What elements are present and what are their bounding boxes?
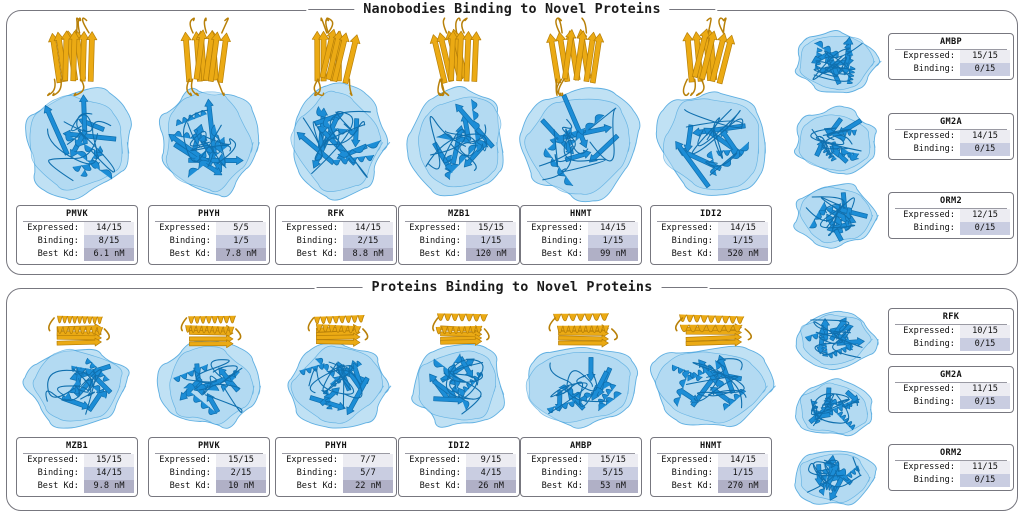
binder-cartoon [547,18,604,95]
table-row-best-kd: Best Kd: 26 nM [402,480,516,493]
binder-cartoon [181,18,231,95]
table-row-expressed: Expressed: 14/15 [20,222,134,235]
row-label-binding: Binding: [402,235,466,248]
row-label-expressed: Expressed: [20,454,84,467]
structure-complex-hnmt [515,18,647,198]
row-label-best-kd: Best Kd: [654,480,718,493]
row-value-expressed: 14/15 [588,222,638,235]
row-label-binding: Binding: [892,222,960,235]
target-protein-cartoon [26,88,132,200]
row-label-expressed: Expressed: [152,454,216,467]
row-label-binding: Binding: [524,467,588,480]
target-protein-cartoon [794,184,879,249]
info-table-mzb1: MZB1 Expressed: 15/15 Binding: 14/15 Bes… [16,437,138,497]
table-row-best-kd: Best Kd: 8.8 nM [279,248,393,261]
table-protein-name: ORM2 [895,195,1007,209]
row-label-binding: Binding: [892,396,960,409]
structure-complex-mzb1 [21,300,133,432]
table-row-best-kd: Best Kd: 520 nM [654,248,768,261]
row-label-expressed: Expressed: [654,454,718,467]
info-table-gm2a: GM2A Expressed: 14/15 Binding: 0/15 [888,113,1014,160]
table-protein-name: GM2A [895,369,1007,383]
row-value-best-kd: 10 nM [216,480,266,493]
row-value-best-kd: 99 nM [588,248,638,261]
table-row-expressed: Expressed: 15/15 [152,454,266,467]
title-rule-right [670,9,716,11]
binder-cartoon [549,313,617,347]
binder-cartoon [49,316,109,346]
row-value-binding: 8/15 [84,235,134,248]
row-value-binding: 0/15 [960,222,1010,235]
structure-complex-rfk [281,18,391,198]
row-value-best-kd: 26 nM [466,480,516,493]
row-value-expressed: 14/15 [718,222,768,235]
row-value-best-kd: 9.8 nM [84,480,134,493]
row-value-binding: 1/5 [216,235,266,248]
table-row-expressed: Expressed: 14/15 [892,130,1010,143]
row-label-expressed: Expressed: [654,222,718,235]
row-label-binding: Binding: [20,467,84,480]
table-row-best-kd: Best Kd: 99 nM [524,248,638,261]
table-row-expressed: Expressed: 15/15 [402,222,516,235]
row-value-binding: 0/15 [960,63,1010,76]
row-value-binding: 0/15 [960,338,1010,351]
table-row-expressed: Expressed: 15/15 [524,454,638,467]
row-value-best-kd: 22 nM [343,480,393,493]
row-label-binding: Binding: [524,235,588,248]
table-row-best-kd: Best Kd: 10 nM [152,480,266,493]
structure-complex-mzb1 [405,18,513,198]
row-label-binding: Binding: [279,467,343,480]
row-label-best-kd: Best Kd: [152,480,216,493]
table-row-binding: Binding: 2/15 [152,467,266,480]
table-row-binding: Binding: 1/15 [654,235,768,248]
row-value-expressed: 7/7 [343,454,393,467]
target-protein-cartoon [291,83,390,200]
row-value-binding: 4/15 [466,467,516,480]
table-protein-name: IDI2 [657,208,765,222]
table-row-binding: Binding: 4/15 [402,467,516,480]
row-label-expressed: Expressed: [279,222,343,235]
table-row-expressed: Expressed: 9/15 [402,454,516,467]
target-protein-cartoon [520,88,640,202]
table-row-binding: Binding: 2/15 [279,235,393,248]
row-label-expressed: Expressed: [892,383,960,396]
row-value-expressed: 9/15 [466,454,516,467]
table-protein-name: RFK [895,311,1007,325]
table-row-binding: Binding: 14/15 [20,467,134,480]
binder-cartoon [433,313,489,345]
table-row-binding: Binding: 0/15 [892,474,1010,487]
target-protein-cartoon [795,379,871,436]
row-label-expressed: Expressed: [892,130,960,143]
table-row-expressed: Expressed: 5/5 [152,222,266,235]
row-value-expressed: 11/15 [960,461,1010,474]
row-value-expressed: 15/15 [84,454,134,467]
row-value-expressed: 14/15 [960,130,1010,143]
row-value-expressed: 15/15 [216,454,266,467]
title-rule-left [317,287,363,289]
info-table-orm2: ORM2 Expressed: 11/15 Binding: 0/15 [888,444,1014,491]
row-label-best-kd: Best Kd: [654,248,718,261]
structure-complex-ambp [518,300,644,432]
row-label-expressed: Expressed: [279,454,343,467]
table-row-expressed: Expressed: 14/15 [524,222,638,235]
table-protein-name: PMVK [155,440,263,454]
row-value-best-kd: 8.8 nM [343,248,393,261]
row-value-binding: 1/15 [588,235,638,248]
table-row-expressed: Expressed: 10/15 [892,325,1010,338]
target-protein-cartoon [412,344,505,427]
table-protein-name: HNMT [527,208,635,222]
row-value-binding: 5/7 [343,467,393,480]
target-protein-cartoon [795,451,877,505]
table-row-best-kd: Best Kd: 22 nM [279,480,393,493]
row-label-binding: Binding: [152,235,216,248]
table-protein-name: PHYH [155,208,263,222]
info-table-hnmt: HNMT Expressed: 14/15 Binding: 1/15 Best… [520,205,642,265]
table-row-expressed: Expressed: 14/15 [279,222,393,235]
info-table-hnmt: HNMT Expressed: 14/15 Binding: 1/15 Best… [650,437,772,497]
row-label-expressed: Expressed: [402,222,466,235]
panel-title-text: Nanobodies Binding to Novel Proteins [363,2,660,17]
target-protein-cartoon [526,347,637,428]
table-row-binding: Binding: 0/15 [892,63,1010,76]
row-label-best-kd: Best Kd: [20,248,84,261]
row-label-best-kd: Best Kd: [279,248,343,261]
binder-cartoon [308,315,367,346]
info-table-phyh: PHYH Expressed: 5/5 Binding: 1/5 Best Kd… [148,205,270,265]
target-protein-cartoon [23,349,129,428]
table-protein-name: ORM2 [895,447,1007,461]
table-row-expressed: Expressed: 11/15 [892,383,1010,396]
row-value-binding: 5/15 [588,467,638,480]
row-label-binding: Binding: [152,467,216,480]
structure-complex-phyh [154,18,264,198]
row-label-expressed: Expressed: [152,222,216,235]
info-table-phyh: PHYH Expressed: 7/7 Binding: 5/7 Best Kd… [275,437,397,497]
panel-title-nanobodies: Nanobodies Binding to Novel Proteins [306,2,717,17]
structure-unbound-ambp [790,26,880,96]
row-value-expressed: 15/15 [588,454,638,467]
row-value-binding: 14/15 [84,467,134,480]
row-value-binding: 1/15 [466,235,516,248]
row-value-binding: 2/15 [216,467,266,480]
title-rule-right [661,287,707,289]
row-value-best-kd: 7.8 nM [216,248,266,261]
table-row-binding: Binding: 1/15 [654,467,768,480]
target-protein-cartoon [159,88,259,196]
structure-complex-pmvk [18,18,136,198]
table-row-binding: Binding: 0/15 [892,222,1010,235]
row-label-binding: Binding: [279,235,343,248]
table-row-binding: Binding: 5/7 [279,467,393,480]
table-protein-name: GM2A [895,116,1007,130]
table-row-best-kd: Best Kd: 7.8 nM [152,248,266,261]
table-row-expressed: Expressed: 15/15 [892,50,1010,63]
row-label-expressed: Expressed: [524,222,588,235]
row-label-best-kd: Best Kd: [402,248,466,261]
info-table-ambp: AMBP Expressed: 15/15 Binding: 0/15 [888,33,1014,80]
target-protein-cartoon [794,106,876,174]
structure-complex-phyh [281,300,391,432]
table-row-binding: Binding: 1/15 [402,235,516,248]
table-protein-name: AMBP [895,36,1007,50]
table-protein-name: HNMT [657,440,765,454]
target-protein-cartoon [796,311,878,369]
structure-unbound-gm2a [790,378,880,440]
table-row-expressed: Expressed: 14/15 [654,222,768,235]
row-value-binding: 1/15 [718,467,768,480]
info-table-rfk: RFK Expressed: 14/15 Binding: 2/15 Best … [275,205,397,265]
row-label-expressed: Expressed: [892,325,960,338]
row-value-best-kd: 270 nM [718,480,768,493]
info-table-pmvk: PMVK Expressed: 15/15 Binding: 2/15 Best… [148,437,270,497]
row-value-binding: 1/15 [718,235,768,248]
table-row-binding: Binding: 1/15 [524,235,638,248]
row-value-expressed: 12/15 [960,209,1010,222]
row-label-best-kd: Best Kd: [524,480,588,493]
row-label-binding: Binding: [654,235,718,248]
info-table-ambp: AMBP Expressed: 15/15 Binding: 5/15 Best… [520,437,642,497]
row-label-expressed: Expressed: [524,454,588,467]
row-value-expressed: 14/15 [718,454,768,467]
binder-cartoon [430,18,481,95]
row-label-binding: Binding: [892,338,960,351]
table-row-best-kd: Best Kd: 9.8 nM [20,480,134,493]
table-protein-name: MZB1 [23,440,131,454]
row-value-expressed: 5/5 [216,222,266,235]
row-label-binding: Binding: [654,467,718,480]
row-value-best-kd: 6.1 nM [84,248,134,261]
row-label-binding: Binding: [892,474,960,487]
row-label-expressed: Expressed: [892,209,960,222]
row-label-best-kd: Best Kd: [279,480,343,493]
info-table-idi2: IDI2 Expressed: 9/15 Binding: 4/15 Best … [398,437,520,497]
target-protein-cartoon [656,92,765,196]
table-row-binding: Binding: 0/15 [892,396,1010,409]
row-label-expressed: Expressed: [892,461,960,474]
row-value-expressed: 10/15 [960,325,1010,338]
row-value-expressed: 11/15 [960,383,1010,396]
table-row-best-kd: Best Kd: 6.1 nM [20,248,134,261]
info-table-mzb1: MZB1 Expressed: 15/15 Binding: 1/15 Best… [398,205,520,265]
table-row-binding: Binding: 8/15 [20,235,134,248]
info-table-gm2a: GM2A Expressed: 11/15 Binding: 0/15 [888,366,1014,413]
table-row-expressed: Expressed: 15/15 [20,454,134,467]
info-table-orm2: ORM2 Expressed: 12/15 Binding: 0/15 [888,192,1014,239]
title-rule-left [308,9,354,11]
target-protein-cartoon [288,343,391,428]
row-label-best-kd: Best Kd: [524,248,588,261]
info-table-rfk: RFK Expressed: 10/15 Binding: 0/15 [888,308,1014,355]
structure-unbound-orm2 [790,180,880,250]
target-protein-cartoon [157,341,260,429]
table-row-expressed: Expressed: 14/15 [654,454,768,467]
panel-title-proteins: Proteins Binding to Novel Proteins [315,280,710,295]
row-value-expressed: 15/15 [960,50,1010,63]
row-value-expressed: 14/15 [343,222,393,235]
table-protein-name: MZB1 [405,208,513,222]
row-label-binding: Binding: [892,63,960,76]
target-protein-cartoon [795,30,881,92]
table-row-binding: Binding: 0/15 [892,143,1010,156]
structure-complex-idi2 [407,300,511,432]
protein-binding-figure: Nanobodies Binding to Novel Proteins Pro… [0,0,1024,517]
row-value-expressed: 15/15 [466,222,516,235]
row-value-binding: 0/15 [960,143,1010,156]
row-value-binding: 0/15 [960,474,1010,487]
row-label-best-kd: Best Kd: [402,480,466,493]
row-label-binding: Binding: [402,467,466,480]
row-label-expressed: Expressed: [892,50,960,63]
target-protein-cartoon [650,346,775,426]
structure-unbound-gm2a [790,106,880,176]
table-row-best-kd: Best Kd: 53 nM [524,480,638,493]
table-protein-name: IDI2 [405,440,513,454]
table-protein-name: PMVK [23,208,131,222]
row-value-best-kd: 53 nM [588,480,638,493]
row-value-binding: 2/15 [343,235,393,248]
row-value-best-kd: 120 nM [466,248,516,261]
binder-cartoon [181,316,240,348]
row-label-binding: Binding: [892,143,960,156]
table-row-binding: Binding: 1/5 [152,235,266,248]
binder-cartoon [683,18,735,95]
table-protein-name: PHYH [282,440,390,454]
row-label-best-kd: Best Kd: [20,480,84,493]
row-label-best-kd: Best Kd: [152,248,216,261]
table-row-expressed: Expressed: 11/15 [892,461,1010,474]
target-protein-cartoon [407,86,503,195]
binder-cartoon [48,18,97,95]
structure-complex-hnmt [641,300,781,432]
row-label-expressed: Expressed: [20,222,84,235]
table-row-binding: Binding: 0/15 [892,338,1010,351]
row-label-expressed: Expressed: [402,454,466,467]
structure-complex-pmvk [154,300,264,432]
table-row-binding: Binding: 5/15 [524,467,638,480]
table-row-expressed: Expressed: 12/15 [892,209,1010,222]
table-row-expressed: Expressed: 7/7 [279,454,393,467]
panel-title-text: Proteins Binding to Novel Proteins [372,280,653,295]
structure-complex-idi2 [651,18,771,198]
row-value-best-kd: 520 nM [718,248,768,261]
row-value-binding: 0/15 [960,396,1010,409]
binder-cartoon [676,314,752,346]
table-row-best-kd: Best Kd: 120 nM [402,248,516,261]
row-label-binding: Binding: [20,235,84,248]
structure-unbound-orm2 [790,446,880,508]
info-table-pmvk: PMVK Expressed: 14/15 Binding: 8/15 Best… [16,205,138,265]
structure-unbound-rfk [790,308,880,370]
info-table-idi2: IDI2 Expressed: 14/15 Binding: 1/15 Best… [650,205,772,265]
table-protein-name: RFK [282,208,390,222]
row-value-expressed: 14/15 [84,222,134,235]
table-row-best-kd: Best Kd: 270 nM [654,480,768,493]
table-protein-name: AMBP [527,440,635,454]
